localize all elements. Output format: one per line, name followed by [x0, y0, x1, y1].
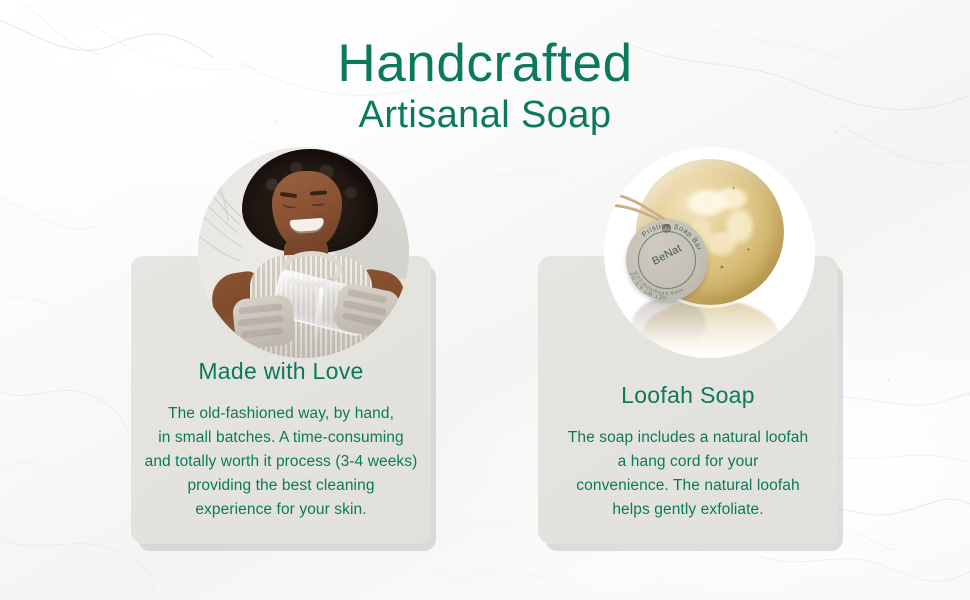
card-title: Loofah Soap [548, 380, 828, 410]
soap-hang-tag: Pristine Soap Bar www.benatnow.com NET W… [626, 219, 708, 301]
card-body-line: The old-fashioned way, by hand, [141, 402, 421, 426]
card-body-line: a hang cord for your [548, 450, 828, 474]
card-body-line: The soap includes a natural loofah [548, 426, 828, 450]
woman-pouring-soap-photo [198, 147, 409, 358]
loofah-soap-bar-photo: Pristine Soap Bar www.benatnow.com NET W… [604, 147, 815, 358]
photo-bottom-shade [198, 310, 409, 358]
handcrafted-soap-banner: Handcrafted Artisanal Soap Made with Lov… [0, 0, 970, 600]
card-text-block: Made with Love The old-fashioned way, by… [131, 356, 431, 522]
card-body: The soap includes a natural loofah a han… [548, 426, 828, 522]
page-subtitle: Artisanal Soap [0, 92, 970, 138]
card-body-line: helps gently exfoliate. [548, 498, 828, 522]
card-body-line: and totally worth it process (3-4 weeks) [141, 450, 421, 474]
photo-composition: Pristine Soap Bar www.benatnow.com NET W… [604, 147, 815, 358]
photo-composition [198, 147, 409, 358]
banner-header: Handcrafted Artisanal Soap [0, 34, 970, 138]
card-text-block: Loofah Soap The soap includes a natural … [538, 380, 838, 522]
card-body-line: in small batches. A time-consuming [141, 426, 421, 450]
card-body-line: providing the best cleaning [141, 474, 421, 498]
card-title: Made with Love [141, 356, 421, 386]
card-body: The old-fashioned way, by hand, in small… [141, 402, 421, 522]
card-body-line: experience for your skin. [141, 498, 421, 522]
card-body-line: convenience. The natural loofah [548, 474, 828, 498]
page-title: Handcrafted [0, 34, 970, 94]
